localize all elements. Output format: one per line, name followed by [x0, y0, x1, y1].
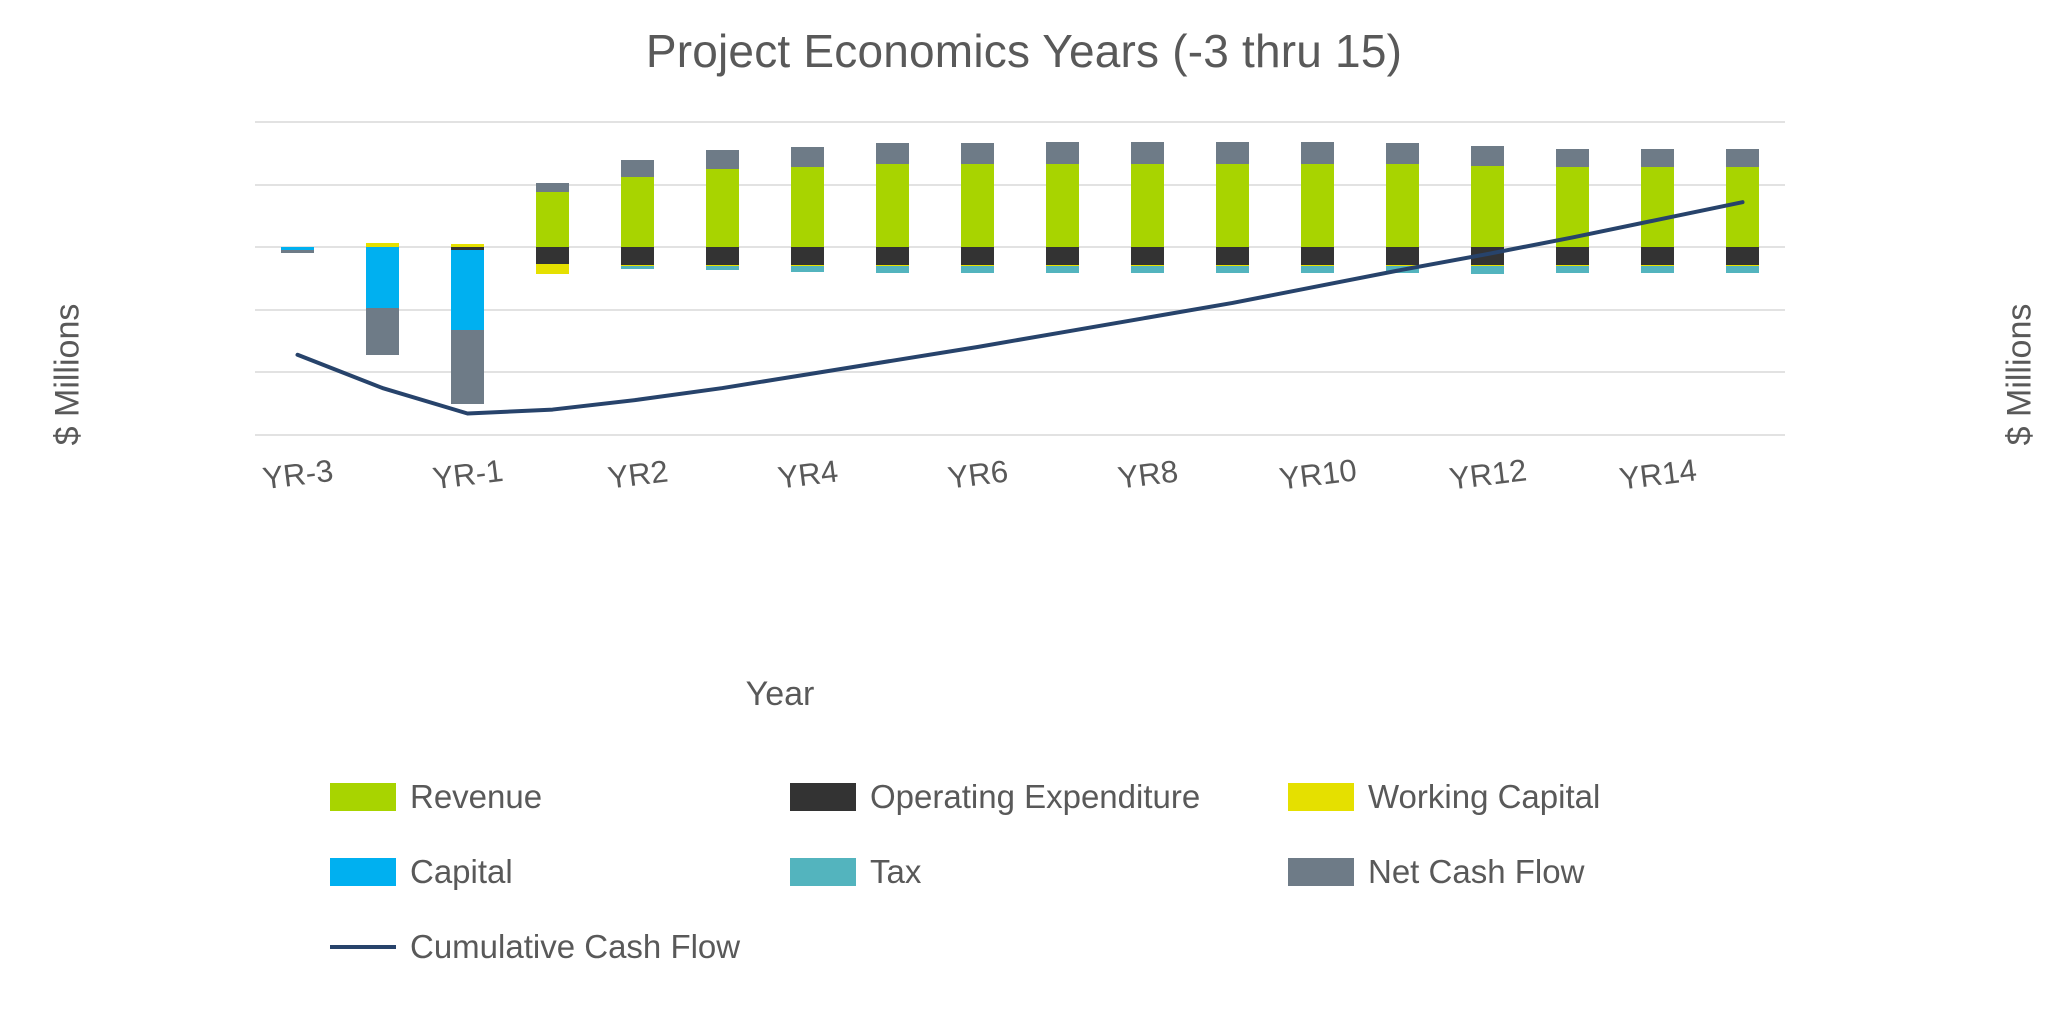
legend-label-tax: Tax	[870, 855, 921, 888]
legend-label-net-cash-flow: Net Cash Flow	[1368, 855, 1584, 888]
plot-area: $400$200$0($200)($400)($600) $1,000$800$…	[255, 122, 1785, 435]
legend-label-capital: Capital	[410, 855, 513, 888]
chart-title: Project Economics Years (-3 thru 15)	[0, 24, 2048, 78]
x-axis-tick-label: YR10	[1236, 447, 1399, 502]
x-axis-title: Year	[0, 675, 1560, 714]
x-axis-tick-label: YR-3	[216, 447, 379, 502]
legend-item-revenue[interactable]: Revenue	[330, 780, 542, 813]
legend-label-working-capital: Working Capital	[1368, 780, 1600, 813]
x-axis-tick-label: YR2	[556, 447, 719, 502]
x-axis-tick-label: YR-1	[386, 447, 549, 502]
x-axis-tick-label: YR4	[726, 447, 889, 502]
legend-item-tax[interactable]: Tax	[790, 855, 921, 888]
legend-row-3: Cumulative Cash Flow	[0, 930, 1560, 1005]
legend-item-cumulative-cash-flow[interactable]: Cumulative Cash Flow	[330, 930, 740, 963]
legend-item-working-capital[interactable]: Working Capital	[1288, 780, 1600, 813]
legend-swatch-cumulative-cash-flow	[330, 945, 396, 949]
legend-swatch-working-capital	[1288, 783, 1354, 811]
x-axis-tick-label: YR14	[1576, 447, 1739, 502]
right-axis-title: $ Millions	[2001, 255, 2040, 495]
legend-row-1: Revenue Operating Expenditure Working Ca…	[0, 780, 1560, 855]
cumulative-cash-flow-line	[255, 122, 1785, 435]
legend-row-2: Capital Tax Net Cash Flow	[0, 855, 1560, 930]
left-axis-title: $ Millions	[49, 255, 88, 495]
x-axis-tick-label: YR8	[1066, 447, 1229, 502]
x-axis-tick-label: YR6	[896, 447, 1059, 502]
legend-swatch-tax	[790, 858, 856, 886]
chart-legend: Revenue Operating Expenditure Working Ca…	[0, 780, 1560, 1005]
legend-label-operating-expenditure: Operating Expenditure	[870, 780, 1200, 813]
legend-swatch-net-cash-flow	[1288, 858, 1354, 886]
legend-item-capital[interactable]: Capital	[330, 855, 513, 888]
legend-label-revenue: Revenue	[410, 780, 542, 813]
legend-swatch-operating-expenditure	[790, 783, 856, 811]
legend-label-cumulative-cash-flow: Cumulative Cash Flow	[410, 930, 740, 963]
cumulative-cash-flow-polyline	[298, 202, 1743, 413]
legend-swatch-capital	[330, 858, 396, 886]
chart-root: Project Economics Years (-3 thru 15) $ M…	[0, 0, 2048, 1013]
legend-swatch-revenue	[330, 783, 396, 811]
legend-item-net-cash-flow[interactable]: Net Cash Flow	[1288, 855, 1584, 888]
x-axis-tick-label: YR12	[1406, 447, 1569, 502]
legend-item-operating-expenditure[interactable]: Operating Expenditure	[790, 780, 1200, 813]
